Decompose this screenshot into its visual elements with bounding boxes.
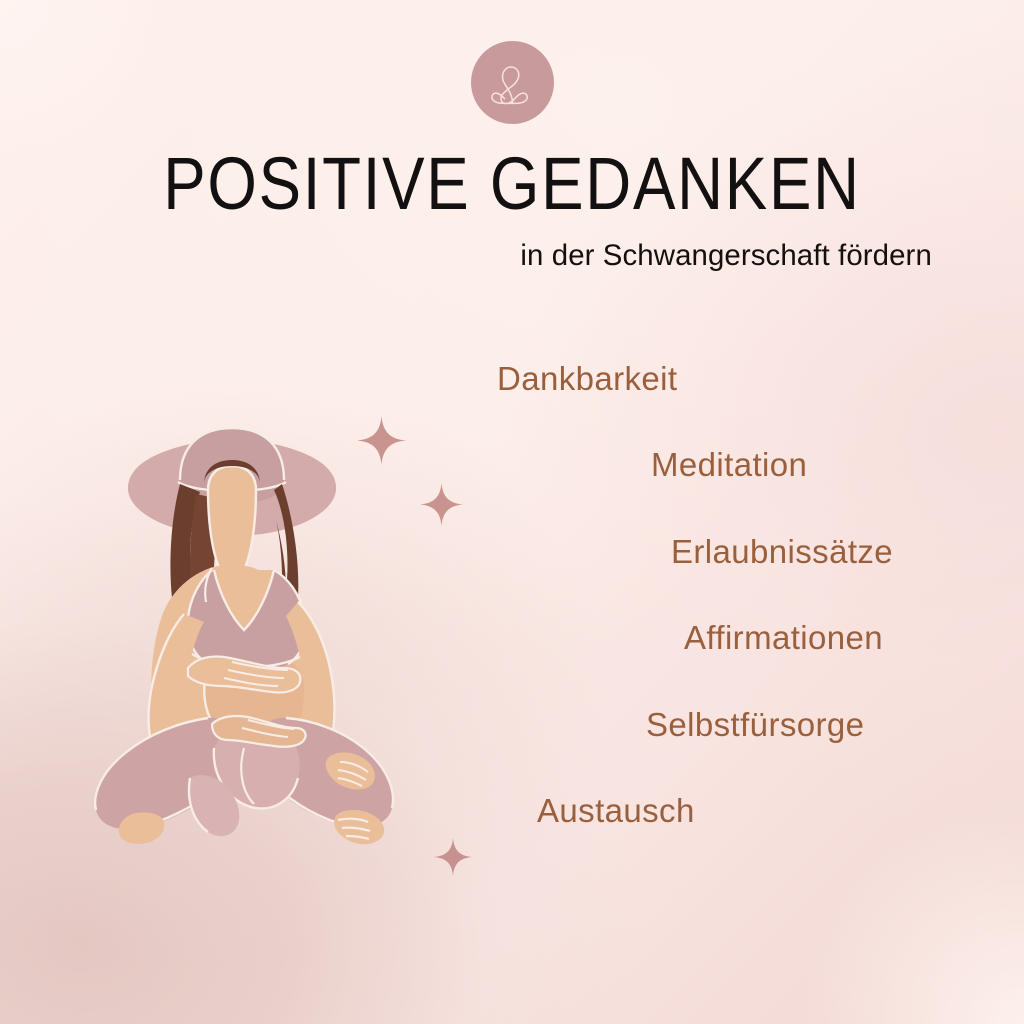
logo	[0, 41, 1024, 124]
list-item: Meditation	[651, 448, 807, 481]
sparkle-icon	[434, 838, 472, 876]
list-item: Selbstfürsorge	[646, 708, 864, 741]
list-item: Dankbarkeit	[497, 362, 678, 395]
pregnant-woman-illustration	[92, 418, 402, 886]
poster-canvas: POSITIVE GEDANKEN in der Schwangerschaft…	[0, 0, 1024, 1024]
page-subtitle: in der Schwangerschaft fördern	[520, 241, 932, 271]
list-item: Erlaubnissätze	[671, 535, 893, 568]
page-title: POSITIVE GEDANKEN	[72, 147, 953, 221]
meditation-line-logo-icon	[471, 41, 554, 124]
list-item: Austausch	[537, 794, 695, 827]
list-item: Affirmationen	[684, 621, 883, 654]
sparkle-icon	[420, 483, 463, 526]
